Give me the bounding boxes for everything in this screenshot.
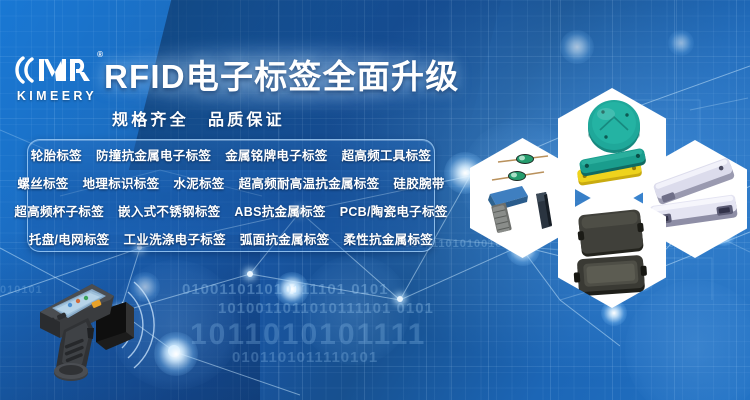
product-item[interactable]: 防撞抗金属电子标签 xyxy=(96,145,211,164)
brand-name: KIMEERY xyxy=(14,89,100,103)
product-item[interactable]: 嵌入式不锈钢标签 xyxy=(118,201,220,220)
kmr-logomark-icon xyxy=(14,52,100,88)
brand-logo[interactable]: ® KIMEERY xyxy=(14,52,100,108)
light-glow xyxy=(668,30,694,56)
product-item[interactable]: 工业洗涤电子标签 xyxy=(123,229,225,248)
binary-text: 1011010101111 xyxy=(190,318,426,352)
rfid-promo-banner: 010011011010111101 0101 1010011011010111… xyxy=(0,0,750,400)
product-item[interactable]: 弧面抗金属标签 xyxy=(240,229,330,248)
page-title: RFID电子标签全面升级 xyxy=(104,50,459,98)
binary-text: 0101101011110101 xyxy=(232,349,378,366)
product-row-1: 轮胎标签 防撞抗金属电子标签 金属铭牌电子标签 超高频工具标签 xyxy=(28,140,434,168)
product-item[interactable]: 超高频杯子标签 xyxy=(14,201,104,220)
product-item[interactable]: 硅胶腕带 xyxy=(393,173,444,192)
product-item[interactable]: 水泥标签 xyxy=(173,173,224,192)
handheld-rfid-reader[interactable] xyxy=(30,272,170,390)
product-row-2: 螺丝标签 地理标识标签 水泥标签 超高频耐高温抗金属标签 硅胶腕带 xyxy=(28,168,434,196)
network-node xyxy=(247,271,253,277)
product-item[interactable]: 柔性抗金属标签 xyxy=(343,229,433,248)
logo-mark: ® xyxy=(14,52,100,88)
light-glow xyxy=(560,30,594,64)
product-list-panel: 轮胎标签 防撞抗金属电子标签 金属铭牌电子标签 超高频工具标签 螺丝标签 地理标… xyxy=(27,139,435,252)
product-row-3: 超高频杯子标签 嵌入式不锈钢标签 ABS抗金属标签 PCB/陶瓷电子标签 xyxy=(28,196,434,224)
product-row-4: 托盘/电网标签 工业洗涤电子标签 弧面抗金属标签 柔性抗金属标签 xyxy=(28,224,434,252)
product-item[interactable]: 托盘/电网标签 xyxy=(29,229,110,248)
product-item[interactable]: PCB/陶瓷电子标签 xyxy=(340,201,448,220)
binary-text: 1010011011010111101 0101 xyxy=(218,300,434,317)
product-item[interactable]: 金属铭牌电子标签 xyxy=(225,145,327,164)
product-item[interactable]: ABS抗金属标签 xyxy=(234,201,325,220)
product-item[interactable]: 轮胎标签 xyxy=(31,145,82,164)
product-item[interactable]: 地理标识标签 xyxy=(83,173,160,192)
binary-text: 010011011010111101 0101 xyxy=(182,281,389,298)
product-item[interactable]: 超高频耐高温抗金属标签 xyxy=(239,173,380,192)
product-item[interactable]: 超高频工具标签 xyxy=(342,145,432,164)
handheld-rfid-reader-icon xyxy=(30,272,170,390)
page-subtitle: 规格齐全 品质保证 xyxy=(112,106,285,130)
product-item[interactable]: 螺丝标签 xyxy=(17,173,68,192)
